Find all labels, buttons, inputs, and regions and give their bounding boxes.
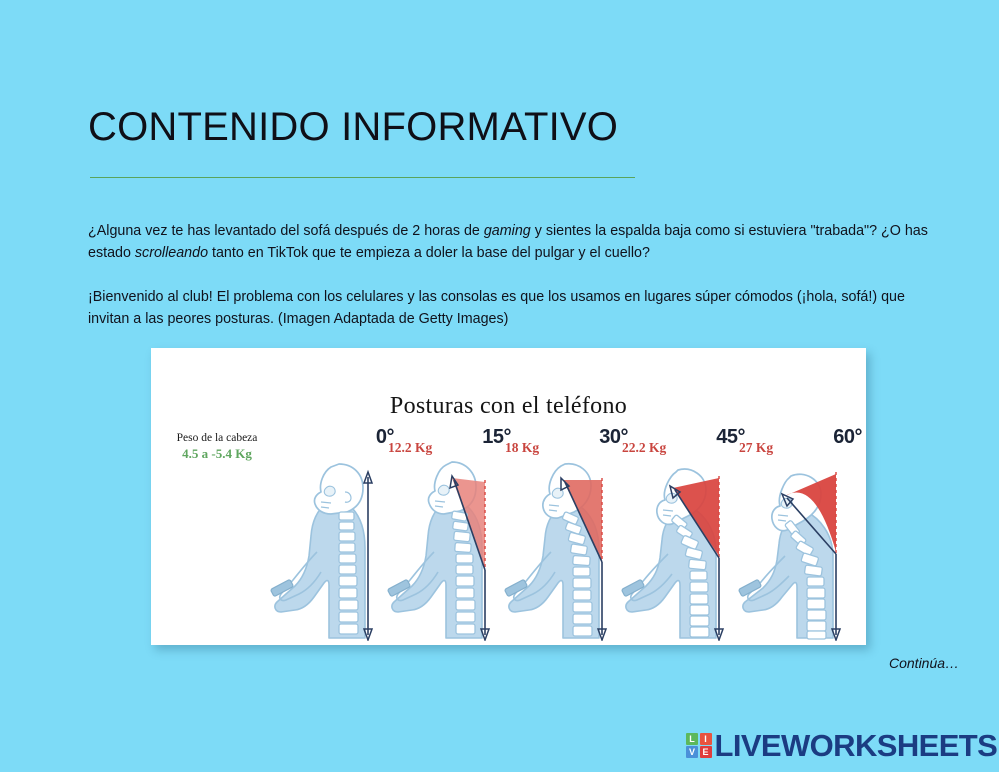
posture-silhouette-60 bbox=[737, 452, 866, 641]
posture-figure-45: 45° 22.2 Kg bbox=[620, 426, 751, 641]
title-divider bbox=[90, 177, 635, 178]
logo-letter-squares: L I V E bbox=[686, 733, 712, 759]
posture-silhouette-30 bbox=[503, 452, 634, 641]
liveworksheets-logo[interactable]: L I V E LIVEWORKSHEETS bbox=[686, 730, 997, 761]
head-weight-value: 4.5 a -5.4 Kg bbox=[163, 446, 271, 461]
logo-square-e: E bbox=[700, 746, 712, 758]
posture-figure-15: 15° 12.2 Kg bbox=[386, 426, 517, 641]
posture-silhouette-45 bbox=[620, 452, 751, 641]
intro-paragraph: ¿Alguna vez te has levantado del sofá de… bbox=[88, 220, 933, 264]
posture-figure-60: 60° 27 Kg bbox=[737, 426, 866, 641]
logo-wordmark: LIVEWORKSHEETS bbox=[715, 730, 998, 761]
logo-square-i: I bbox=[700, 733, 712, 745]
posture-figure-30: 30° 18 Kg bbox=[503, 426, 634, 641]
page-title: CONTENIDO INFORMATIVO bbox=[88, 105, 618, 150]
posture-silhouette-0 bbox=[269, 452, 400, 641]
angle-label-60: 60° bbox=[833, 426, 862, 449]
logo-square-l: L bbox=[686, 733, 698, 745]
posture-figure-0: 0° bbox=[269, 426, 400, 641]
logo-square-v: V bbox=[686, 746, 698, 758]
paragraph-1-segment-3: tanto en TikTok que te empieza a doler l… bbox=[208, 245, 650, 261]
posture-silhouette-15 bbox=[386, 452, 517, 641]
head-weight-legend: Peso de la cabeza 4.5 a -5.4 Kg bbox=[163, 431, 271, 461]
posture-infographic: Posturas con el teléfono Peso de la cabe… bbox=[151, 348, 866, 645]
infographic-title: Posturas con el teléfono bbox=[151, 393, 866, 420]
paragraph-1-emphasis-scrolleando: scrolleando bbox=[135, 245, 208, 261]
body-paragraph: ¡Bienvenido al club! El problema con los… bbox=[88, 286, 943, 330]
head-weight-label: Peso de la cabeza bbox=[163, 431, 271, 446]
paragraph-1-segment-1: ¿Alguna vez te has levantado del sofá de… bbox=[88, 223, 484, 239]
continue-note: Continúa… bbox=[889, 655, 959, 671]
paragraph-1-emphasis-gaming: gaming bbox=[484, 223, 531, 239]
